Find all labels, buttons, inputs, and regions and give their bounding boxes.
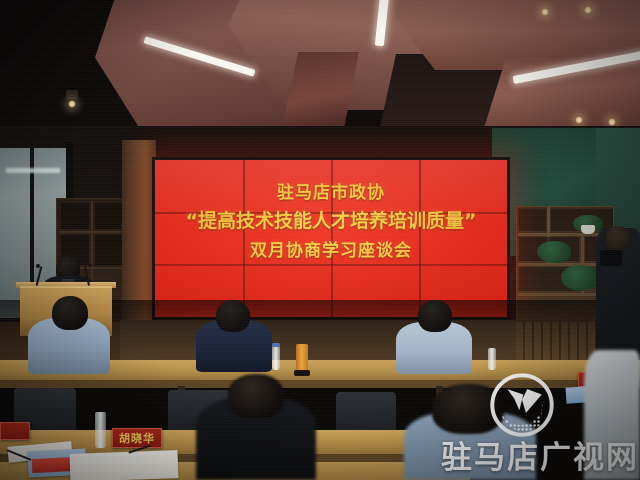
foreground-person-head-2: [432, 384, 504, 434]
microphone-right-head: [88, 263, 92, 267]
ceiling: [0, 0, 640, 132]
nameplate-left-partial: [0, 422, 30, 440]
water-bottle-right: [488, 348, 496, 370]
foreground-person-body-3: [584, 350, 640, 480]
potted-plant-mid: [537, 241, 571, 263]
chair-3: [336, 392, 396, 434]
screen-vignette: [155, 160, 507, 317]
downlight-4: [575, 116, 583, 124]
conference-photo: 驻马店市政协 “提高技术技能人才培养培训质量” 双月协商学习座谈会 李林: [0, 0, 640, 480]
camera-operator-head: [606, 226, 630, 252]
window-light-reflection: [6, 168, 60, 173]
led-video-wall[interactable]: 驻马店市政协 “提高技术技能人才培养培训质量” 双月协商学习座谈会: [152, 157, 510, 320]
downlight-1: [68, 100, 76, 108]
attendee-head-1: [52, 296, 88, 330]
cabinet-cell: [519, 209, 546, 231]
video-wall-grid: 驻马店市政协 “提高技术技能人才培养培训质量” 双月协商学习座谈会: [155, 160, 507, 317]
thermos-cup: [296, 344, 308, 372]
table-mid-edge: [0, 380, 640, 388]
water-bottle-foreground: [95, 412, 106, 448]
bookcase-cell: [61, 203, 89, 229]
bookcase-cell: [95, 235, 125, 265]
foreground-person-head-1: [228, 374, 284, 418]
nameplate-center: 胡晓华: [112, 428, 162, 448]
plant-pot: [581, 225, 595, 234]
bookcase-cell: [95, 203, 125, 229]
video-camera: [600, 250, 622, 266]
downlight-5: [608, 118, 616, 126]
microphone-left-head: [36, 264, 40, 268]
water-bottle-cap: [272, 343, 280, 347]
downlight-3: [584, 6, 592, 14]
attendee-head-2: [216, 300, 250, 332]
downlight-2: [541, 8, 549, 16]
potted-plant-low: [561, 265, 599, 291]
water-bottle-mid: [272, 346, 280, 370]
thermos-base: [294, 370, 310, 376]
attendee-head-3: [418, 300, 452, 332]
paper-sheet-center: [70, 450, 179, 480]
ceiling-spotlight-housing: [66, 90, 78, 99]
